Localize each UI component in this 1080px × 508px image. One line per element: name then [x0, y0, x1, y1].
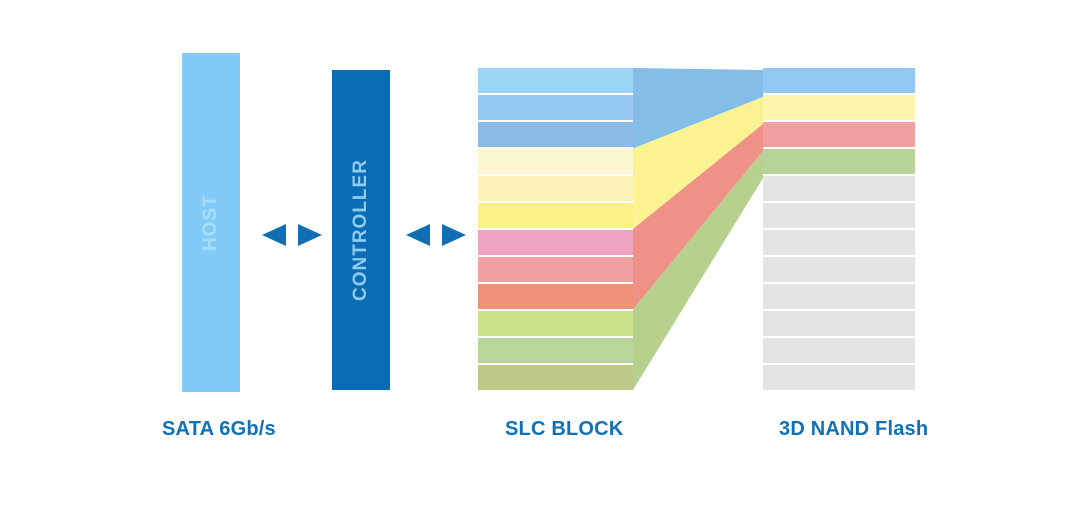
arrow-right-icon [442, 224, 466, 246]
nand-band-empty-4 [763, 257, 915, 282]
nand-block [763, 68, 915, 390]
slc-band-blue-3 [478, 122, 633, 147]
slc-band-pink-3 [478, 284, 633, 309]
slc-band-pink-1 [478, 230, 633, 255]
funnel-yellow [633, 97, 763, 229]
host-label: HOST [182, 53, 240, 392]
nand-band-red [763, 122, 915, 147]
caption-slc-block: SLC BLOCK [505, 418, 623, 441]
funnel-red [633, 124, 763, 310]
arrow-left-icon [262, 224, 286, 246]
slc-block [478, 68, 633, 390]
slc-band-yellow-1 [478, 149, 633, 174]
caption-sata: SATA 6Gb/s [162, 418, 276, 441]
slc-band-green-3 [478, 365, 633, 390]
slc-band-pink-2 [478, 257, 633, 282]
funnel-green [633, 151, 763, 390]
arrow-right-icon [298, 224, 322, 246]
nand-band-empty-5 [763, 284, 915, 309]
caption-3d-nand-flash: 3D NAND Flash [779, 418, 928, 441]
controller-nand-arrows [406, 220, 466, 250]
nand-band-empty-7 [763, 338, 915, 363]
nand-band-yellow [763, 95, 915, 120]
controller-block: CONTROLLER [332, 70, 390, 390]
slc-band-yellow-3 [478, 203, 633, 228]
nand-band-empty-1 [763, 176, 915, 201]
slc-band-blue-1 [478, 68, 633, 93]
controller-label: CONTROLLER [332, 70, 390, 390]
nand-band-green [763, 149, 915, 174]
nand-band-blue [763, 68, 915, 93]
slc-band-green-2 [478, 338, 633, 363]
diagram-canvas: HOST CONTROLLER SATA 6Gb/s SLC BLOCK 3D … [0, 0, 1080, 508]
nand-band-empty-2 [763, 203, 915, 228]
nand-band-empty-6 [763, 311, 915, 336]
slc-band-green-1 [478, 311, 633, 336]
slc-band-blue-2 [478, 95, 633, 120]
slc-band-yellow-2 [478, 176, 633, 201]
arrow-left-icon [406, 224, 430, 246]
host-block: HOST [182, 53, 240, 392]
nand-band-empty-8 [763, 365, 915, 390]
nand-band-empty-3 [763, 230, 915, 255]
funnel-blue [633, 68, 763, 149]
host-controller-arrows [262, 220, 322, 250]
